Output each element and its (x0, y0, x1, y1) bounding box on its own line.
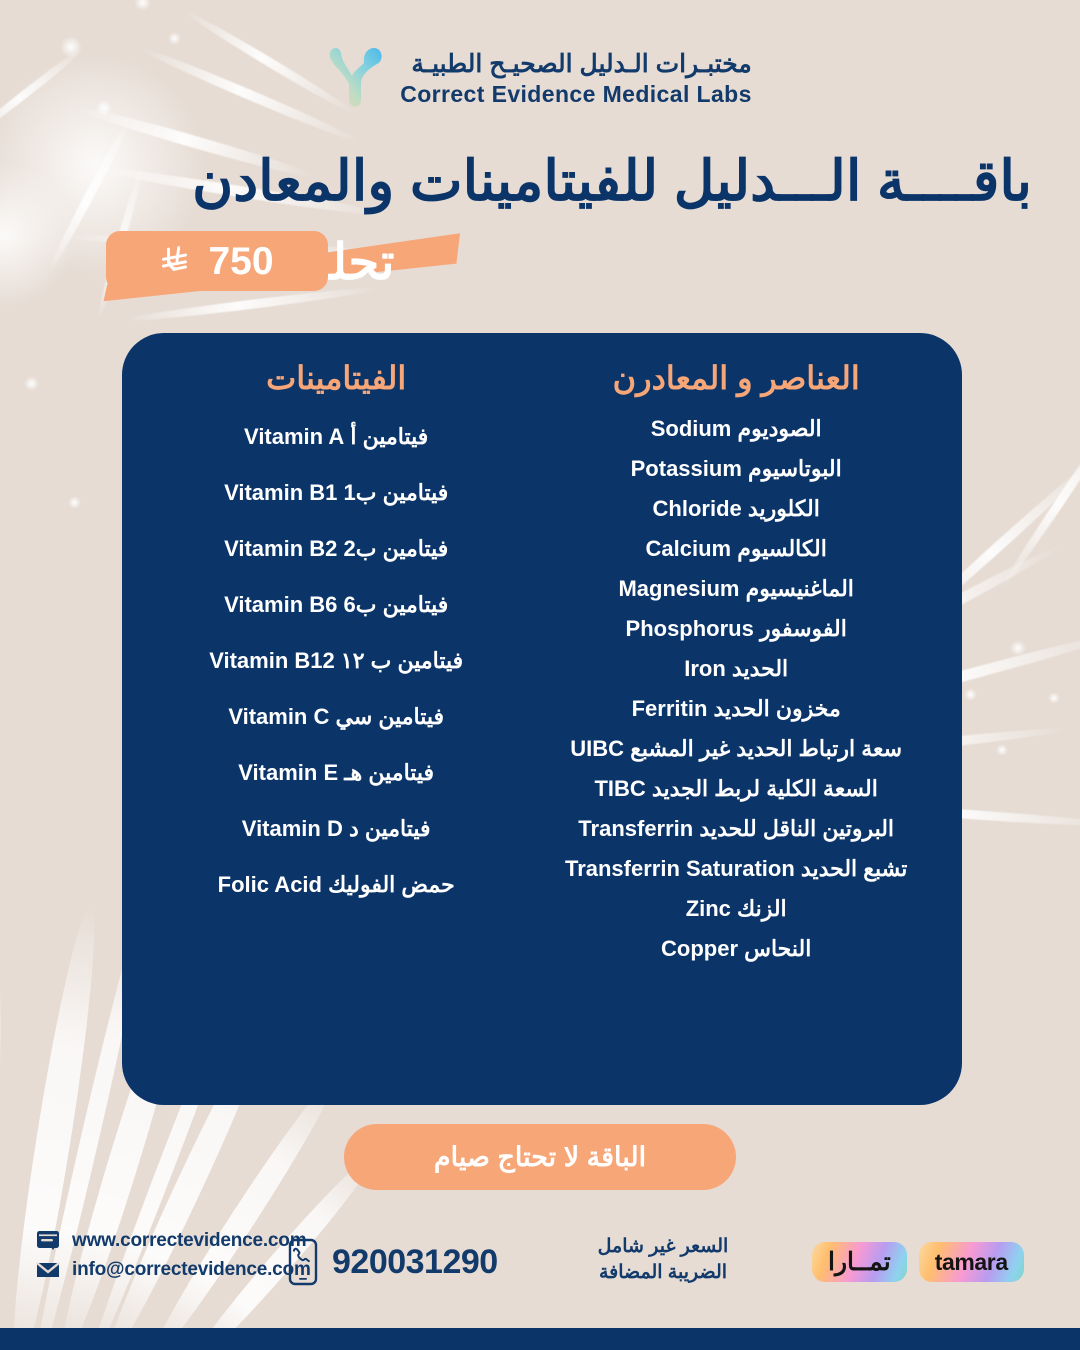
vitamins-heading: الفيتامينات (266, 359, 406, 397)
vitamins-item: فيتامين ب1 Vitamin B1 (224, 465, 448, 521)
minerals-item: الكلوريد Chloride (653, 489, 820, 529)
website-text: www.correctevidence.com (72, 1230, 306, 1252)
phone-block[interactable]: 920031290 (288, 1238, 498, 1286)
price-amount: 750 (208, 242, 273, 281)
minerals-item: البروتين الناقل للحديد Transferrin (578, 809, 894, 849)
envelope-icon (36, 1259, 62, 1281)
minerals-item: الفوسفور Phosphorus (626, 609, 847, 649)
payment-methods: تمــارا tamara (812, 1242, 1024, 1282)
bottom-accent-bar (0, 1328, 1080, 1350)
phone-number: 920031290 (332, 1243, 498, 1282)
brand-name-arabic: مختبـرات الـدليل الصحيـح الطبيـة (400, 49, 752, 80)
website-row[interactable]: www.correctevidence.com (36, 1230, 311, 1252)
brand-logo: مختبـرات الـدليل الصحيـح الطبيـة Correct… (0, 42, 1080, 116)
tax-note: السعر غير شامل الضريبة المضافة (578, 1234, 748, 1285)
minerals-item: سعة ارتباط الحديد غير المشبع UIBC (570, 729, 902, 769)
no-fasting-badge: الباقة لا تحتاج صيام (344, 1124, 736, 1190)
minerals-item: الكالسيوم Calcium (646, 529, 827, 569)
footer: www.correctevidence.com info@correctevid… (0, 1216, 1080, 1328)
vitamins-item: فيتامين سي Vitamin C (228, 689, 444, 745)
brand-name-english: Correct Evidence Medical Labs (400, 80, 752, 109)
browser-window-icon (36, 1230, 62, 1252)
no-fasting-label: الباقة لا تحتاج صيام (434, 1142, 646, 1173)
mobile-phone-icon (288, 1238, 318, 1286)
page-title: باقــــة الـــدليل للفيتامينات والمعادن (192, 148, 1032, 214)
tamara-latin-logo[interactable]: tamara (919, 1242, 1024, 1282)
vitamins-item: فيتامين د Vitamin D (242, 801, 431, 857)
vitamins-item: حمض الفوليك Folic Acid (218, 857, 455, 913)
minerals-item: النحاس Copper (661, 929, 811, 969)
molecule-logo-icon (328, 42, 386, 116)
email-row[interactable]: info@correctevidence.com (36, 1259, 311, 1281)
minerals-item: السعة الكلية لربط الجديد TIBC (594, 769, 877, 809)
minerals-list: الصوديوم Sodiumالبوتاسيوم Potassiumالكلو… (530, 409, 942, 969)
tamara-arabic-logo[interactable]: تمــارا (812, 1242, 907, 1282)
saudi-riyal-icon (160, 244, 194, 278)
vitamins-item: فيتامين أ Vitamin A (244, 409, 428, 465)
minerals-item: الصوديوم Sodium (651, 409, 822, 449)
minerals-heading: العناصر و المعادرن (613, 359, 860, 397)
vitamins-list: فيتامين أ Vitamin Aفيتامين ب1 Vitamin B1… (142, 409, 530, 913)
vitamins-item: فيتامين ب ١٢ Vitamin B12 (209, 633, 463, 689)
tamara-arabic-label: تمــارا (828, 1247, 891, 1277)
minerals-item: الحديد Iron (684, 649, 788, 689)
minerals-item: البوتاسيوم Potassium (631, 449, 842, 489)
contact-block: www.correctevidence.com info@correctevid… (36, 1230, 311, 1288)
poster-canvas: مختبـرات الـدليل الصحيـح الطبيـة Correct… (0, 0, 1080, 1350)
minerals-column: العناصر و المعادرن الصوديوم Sodiumالبوتا… (530, 359, 942, 1091)
vitamins-column: الفيتامينات فيتامين أ Vitamin Aفيتامين ب… (142, 359, 530, 1091)
tamara-latin-label: tamara (935, 1249, 1008, 1276)
minerals-item: مخزون الحديد Ferritin (632, 689, 841, 729)
tests-card: العناصر و المعادرن الصوديوم Sodiumالبوتا… (122, 333, 962, 1105)
minerals-item: الماغنيسيوم Magnesium (618, 569, 853, 609)
vitamins-item: فيتامين ب2 Vitamin B2 (224, 521, 448, 577)
price-badge: 750 (106, 231, 328, 291)
minerals-item: تشبع الحديد Transferrin Saturation (565, 849, 907, 889)
vitamins-item: فيتامين هـ Vitamin E (238, 745, 434, 801)
minerals-item: الزنك Zinc (686, 889, 787, 929)
email-text: info@correctevidence.com (72, 1259, 311, 1281)
vitamins-item: فيتامين ب6 Vitamin B6 (224, 577, 448, 633)
